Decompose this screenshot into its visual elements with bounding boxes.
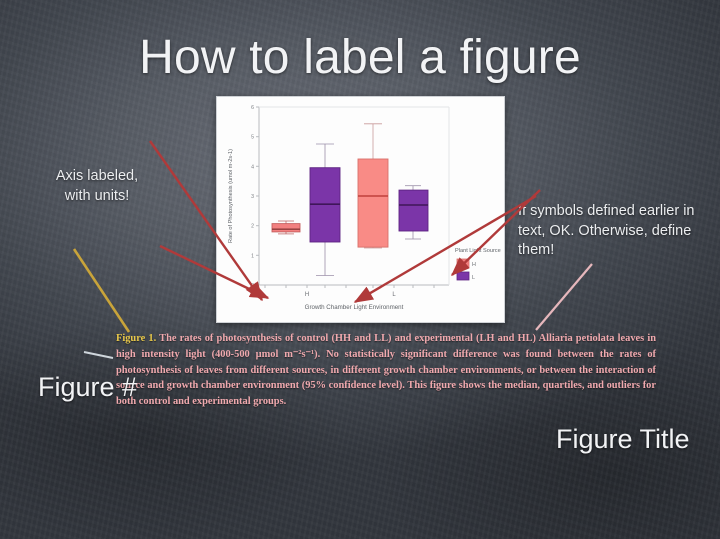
- caption-figure-number: Figure 1.: [116, 333, 156, 344]
- y-axis-label: Rate of Photosynthesis (umol m-2s-1): [228, 149, 234, 243]
- legend-swatch-l: [457, 272, 469, 280]
- figure-panel: 0 1 2 3 4 5 6 Rate of Photosynthesis (um…: [216, 96, 505, 323]
- annotation-figure-title: Figure Title: [556, 421, 720, 457]
- slide-canvas: How to label a figure: [0, 0, 720, 539]
- svg-text:5: 5: [251, 135, 254, 141]
- annotation-axis-labeled: Axis labeled, with units!: [22, 167, 172, 206]
- arrow-figtitle-to-caption: [536, 264, 592, 330]
- svg-text:2: 2: [251, 224, 254, 230]
- svg-text:3: 3: [251, 194, 254, 200]
- legend-label-l: L: [472, 275, 475, 281]
- annotation-symbols: If symbols defined earlier in text, OK. …: [518, 202, 696, 261]
- svg-text:4: 4: [251, 164, 254, 170]
- boxplot-chart: 0 1 2 3 4 5 6 Rate of Photosynthesis (um…: [217, 97, 504, 322]
- svg-text:1: 1: [251, 253, 254, 259]
- box-l-l: [399, 186, 428, 239]
- x-axis-label: Growth Chamber Light Environment: [305, 304, 404, 311]
- svg-text:0: 0: [251, 283, 254, 289]
- legend-label-h: H: [472, 262, 476, 268]
- arrow-fignum-to-caption: [74, 249, 129, 332]
- arrow-saying-to-caption: [84, 352, 113, 358]
- legend-swatch-h: [457, 259, 469, 267]
- page-title: How to label a figure: [0, 30, 720, 85]
- svg-text:6: 6: [251, 105, 254, 111]
- annotation-axis-line1: Axis labeled,: [56, 168, 138, 184]
- annotation-axis-line2: with units!: [65, 188, 129, 204]
- legend-title: Plant Light Source: [455, 248, 501, 254]
- annotation-figure-number: Figure #: [38, 369, 720, 405]
- x-tick-h: H: [305, 292, 309, 298]
